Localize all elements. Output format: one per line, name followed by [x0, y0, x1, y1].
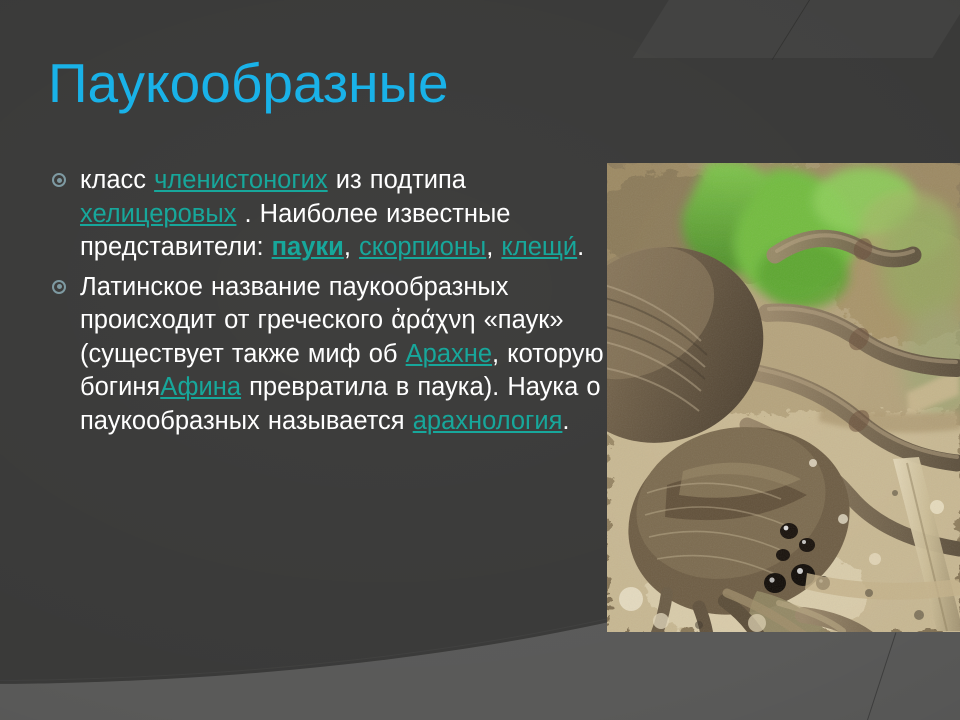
- list-item: Латинское название паукообразных происхо…: [52, 271, 612, 439]
- link-chlenistonogih[interactable]: членистоногих: [154, 166, 328, 194]
- spider-photo: [607, 163, 960, 632]
- text-run: .: [577, 233, 584, 261]
- text-run: .: [562, 407, 569, 435]
- list-item: класс членистоногих из подтипа хелицеров…: [52, 164, 612, 265]
- slide-title: Паукообразные: [48, 52, 449, 114]
- link-arahne[interactable]: Арахне: [406, 340, 492, 368]
- bullet-text-1: класс членистоногих из подтипа хелицеров…: [80, 164, 612, 265]
- link-afina[interactable]: Афина: [160, 373, 241, 401]
- text-run: из подтипа: [328, 166, 466, 194]
- bullet-list: класс членистоногих из подтипа хелицеров…: [52, 164, 612, 444]
- link-arahnologiya[interactable]: арахнология: [413, 407, 563, 435]
- link-pauki[interactable]: пауки: [272, 233, 344, 261]
- ring-dot-bullet-icon: [52, 173, 66, 187]
- presentation-slide: Паукообразные класс членистоногих из под…: [0, 0, 960, 720]
- text-run: класс: [80, 166, 154, 194]
- text-run: ,: [344, 233, 359, 261]
- ring-dot-bullet-icon: [52, 280, 66, 294]
- background-top-right-wedge: [633, 0, 960, 58]
- bullet-text-2: Латинское название паукообразных происхо…: [80, 271, 612, 439]
- link-kleshchi[interactable]: клещи́: [501, 233, 577, 261]
- link-helicerovyh[interactable]: хелицеровых: [80, 200, 236, 228]
- text-run: ,: [486, 233, 501, 261]
- link-skorpiony[interactable]: скорпионы: [359, 233, 486, 261]
